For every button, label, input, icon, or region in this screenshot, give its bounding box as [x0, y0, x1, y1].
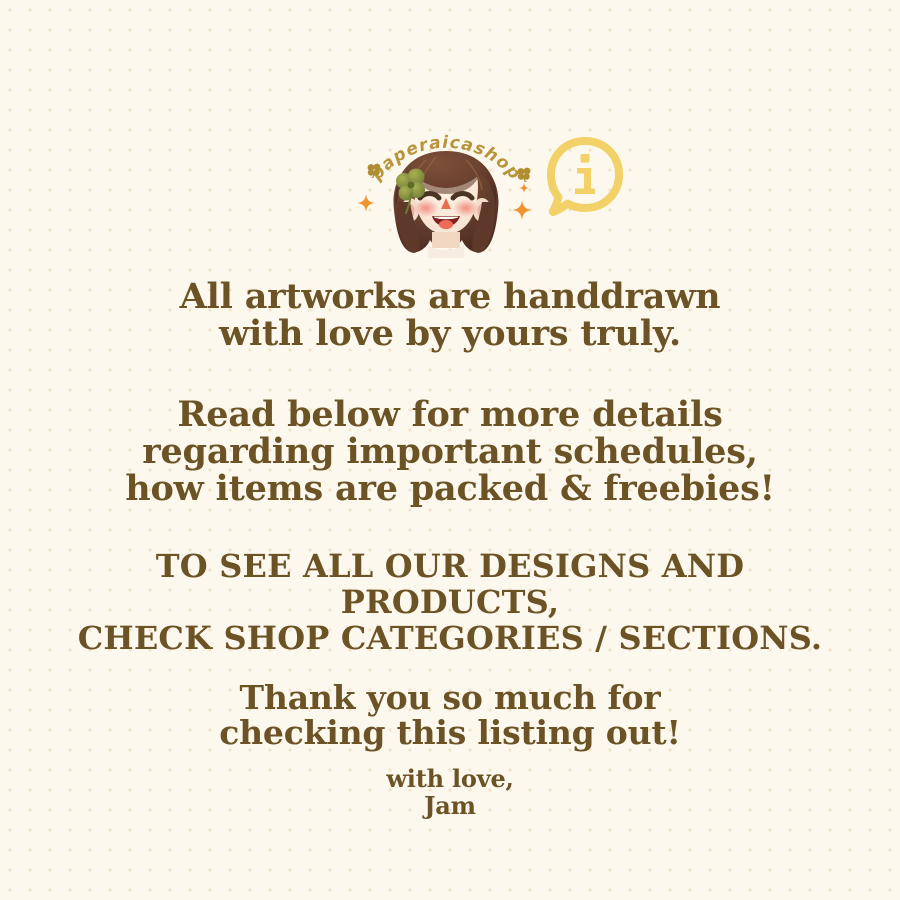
- categories-line-1: TO SEE ALL OUR DESIGNS AND: [0, 549, 900, 585]
- avatar: [370, 136, 522, 274]
- details-line-3: how items are packed & freebies!: [0, 470, 900, 507]
- info-letter: [575, 154, 595, 194]
- neck-collar: [428, 232, 464, 258]
- thanks-line-2: checking this listing out!: [0, 716, 900, 751]
- intro-paragraph: All artworks are handdrawn with love by …: [0, 278, 900, 352]
- message-content: All artworks are handdrawn with love by …: [0, 278, 900, 820]
- decor-sparkle-right-small: [519, 178, 529, 188]
- intro-line-1: All artworks are handdrawn: [0, 278, 900, 315]
- details-paragraph: Read below for more details regarding im…: [0, 396, 900, 507]
- decor-sparkle-left: [357, 194, 375, 212]
- categories-paragraph: TO SEE ALL OUR DESIGNS AND PRODUCTS, CHE…: [0, 549, 900, 656]
- decor-sparkle-right: [512, 200, 532, 220]
- details-line-2: regarding important schedules,: [0, 433, 900, 470]
- intro-line-2: with love by yours truly.: [0, 315, 900, 352]
- logo-header: paperaicashop: [0, 112, 900, 282]
- info-icon[interactable]: [546, 136, 624, 222]
- categories-line-3: CHECK SHOP CATEGORIES / SECTIONS.: [0, 621, 900, 657]
- signature-line-1: with love,: [0, 765, 900, 793]
- shop-logo: paperaicashop: [352, 112, 538, 282]
- decor-clover-left: [366, 162, 382, 178]
- categories-line-2: PRODUCTS,: [0, 585, 900, 621]
- thanks-line-1: Thank you so much for: [0, 681, 900, 716]
- promo-graphic: paperaicashop: [0, 0, 900, 900]
- details-line-1: Read below for more details: [0, 396, 900, 433]
- signature-line-2: Jam: [0, 792, 900, 820]
- signature: with love, Jam: [0, 765, 900, 820]
- thanks-paragraph: Thank you so much for checking this list…: [0, 681, 900, 751]
